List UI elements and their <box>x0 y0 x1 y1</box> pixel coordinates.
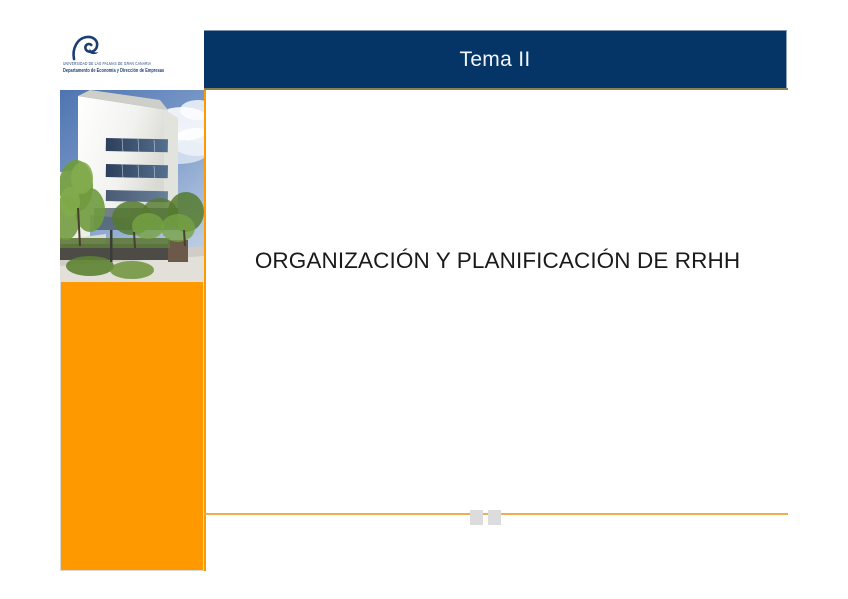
orange-accent-block <box>60 282 204 571</box>
slide: UNIVERSIDAD DE LAS PALMAS DE GRAN CANARI… <box>0 0 848 599</box>
logo-block: UNIVERSIDAD DE LAS PALMAS DE GRAN CANARI… <box>60 30 204 88</box>
footer-square-two <box>488 510 501 525</box>
slide-main-title: ORGANIZACIÓN Y PLANIFICACIÓN DE RRHH <box>210 248 785 274</box>
logo-university-name: UNIVERSIDAD DE LAS PALMAS DE GRAN CANARI… <box>63 61 204 66</box>
banner-title: Tema II <box>204 31 786 89</box>
ulpgc-wave-logo-icon <box>70 35 100 61</box>
logo-department-name: Departamento de Economía y Dirección de … <box>63 67 204 74</box>
banner-underline <box>204 88 788 90</box>
building-photo <box>60 90 204 282</box>
left-sidebar-column: UNIVERSIDAD DE LAS PALMAS DE GRAN CANARI… <box>60 30 204 571</box>
footer-squares-decoration <box>470 510 510 526</box>
footer-square-one <box>470 510 483 525</box>
header-banner: Tema II <box>204 30 787 88</box>
column-edge-rule <box>204 90 206 571</box>
